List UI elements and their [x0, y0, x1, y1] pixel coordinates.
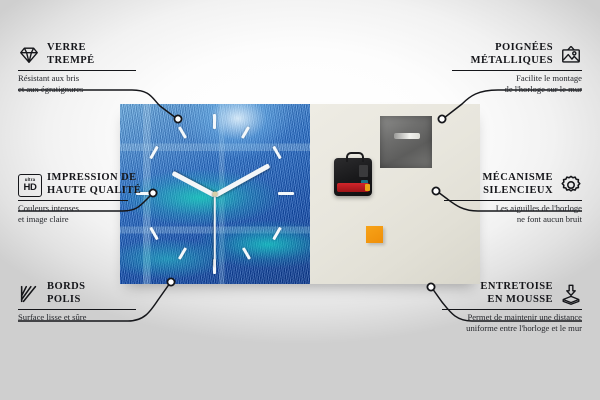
tick-mark [242, 247, 251, 260]
callout-rule [18, 200, 128, 201]
ultra-hd-icon-large-text: HD [23, 183, 36, 193]
foam-spacer [366, 226, 383, 243]
callout-header: VERRE TREMPÉ [18, 42, 148, 67]
callout-title: ENTRETOISE EN MOUSSE [480, 281, 553, 306]
connector-dot-entretoise [427, 283, 434, 290]
callout-subtitle: Surface lisse et sûre [18, 312, 148, 322]
callout-subtitle: Facilite le montage de l'horloge sur le … [452, 73, 582, 94]
callout-rule [18, 309, 136, 310]
callout-title: VERRE TREMPÉ [47, 42, 95, 67]
callout-impression-haute-qualite[interactable]: ultra HD IMPRESSION DE HAUTE QUALITÉ Cou… [18, 172, 158, 224]
callout-header: ENTRETOISE EN MOUSSE [442, 281, 582, 306]
callout-title: IMPRESSION DE HAUTE QUALITÉ [47, 172, 141, 197]
mechanism-chip [359, 165, 368, 177]
callout-rule [444, 200, 582, 201]
hands-pivot [213, 192, 218, 197]
callout-entretoise-en-mousse[interactable]: ENTRETOISE EN MOUSSE Permet de maintenir… [442, 281, 582, 333]
callout-subtitle: Permet de maintenir une distance uniform… [442, 312, 582, 333]
ultra-hd-icon: ultra HD [18, 174, 40, 196]
tick-mark [149, 227, 159, 241]
mechanism-bail [346, 152, 364, 162]
callout-verre-trempe[interactable]: VERRE TREMPÉ Résistant aux bris et aux é… [18, 42, 148, 94]
callout-title: MÉCANISME SILENCIEUX [482, 172, 553, 197]
tick-mark [178, 247, 187, 260]
tick-mark [278, 192, 294, 195]
tick-mark [241, 126, 250, 139]
hanger-slot [394, 133, 420, 139]
infographic-canvas: VERRE TREMPÉ Résistant aux bris et aux é… [0, 0, 600, 400]
callout-subtitle: Couleurs intenses et image claire [18, 203, 158, 224]
product-photo [120, 104, 480, 284]
callout-bords-polis[interactable]: BORDS POLIS Surface lisse et sûre [18, 281, 148, 323]
callout-mecanisme-silencieux[interactable]: MÉCANISME SILENCIEUX Les aiguilles de l'… [444, 172, 582, 224]
callout-rule [442, 309, 582, 310]
tick-mark [149, 146, 159, 160]
battery [337, 183, 369, 192]
tick-mark [272, 227, 282, 241]
metal-hanger [380, 116, 432, 168]
tick-mark [178, 126, 187, 139]
callout-rule [18, 70, 136, 71]
callout-header: BORDS POLIS [18, 281, 148, 306]
callout-subtitle: Les aiguilles de l'horloge ne font aucun… [444, 203, 582, 224]
press-down-foam-icon [560, 283, 582, 305]
hanging-frame-icon [560, 44, 582, 66]
tick-mark [213, 114, 216, 129]
callout-header: ultra HD IMPRESSION DE HAUTE QUALITÉ [18, 172, 158, 197]
callout-subtitle: Résistant aux bris et aux égratignures [18, 73, 148, 94]
diamond-icon [18, 44, 40, 66]
callout-title: POIGNÉES MÉTALLIQUES [471, 42, 553, 67]
diagonal-lines-icon [18, 283, 40, 305]
tick-mark [272, 146, 282, 160]
minute-hand [214, 163, 271, 197]
hour-hand [171, 171, 216, 198]
callout-rule [452, 70, 582, 71]
quartz-mechanism [334, 158, 372, 196]
gear-icon [560, 174, 582, 196]
callout-header: MÉCANISME SILENCIEUX [444, 172, 582, 197]
second-hand [214, 195, 216, 267]
callout-header: POIGNÉES MÉTALLIQUES [452, 42, 582, 67]
callout-title: BORDS POLIS [47, 281, 85, 306]
callout-poignees-metalliques[interactable]: POIGNÉES MÉTALLIQUES Facilite le montage… [452, 42, 582, 94]
